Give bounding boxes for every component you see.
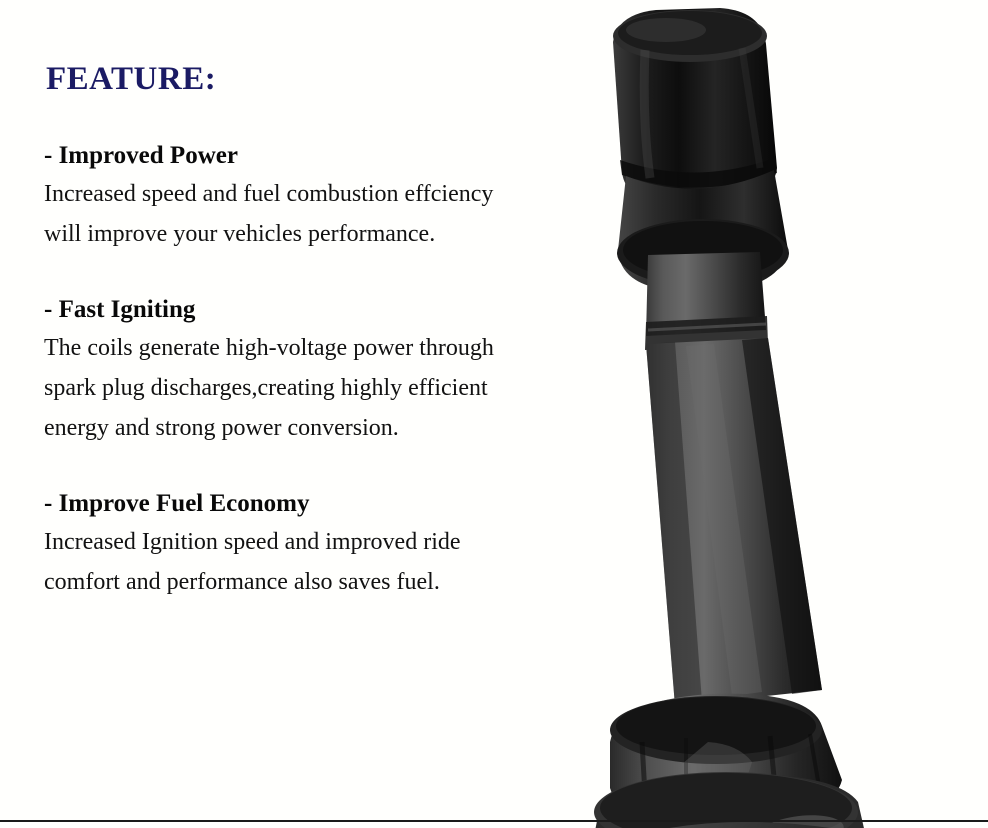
bottom-rule: [0, 820, 988, 822]
rubber-spark-plug-boot: [613, 8, 789, 291]
ignition-coil-photo: [470, 0, 988, 828]
tapered-shaft: [645, 252, 822, 706]
ignition-coil-illustration: [470, 0, 988, 828]
feature-page: FEATURE: - Improved Power Increased spee…: [0, 0, 988, 828]
